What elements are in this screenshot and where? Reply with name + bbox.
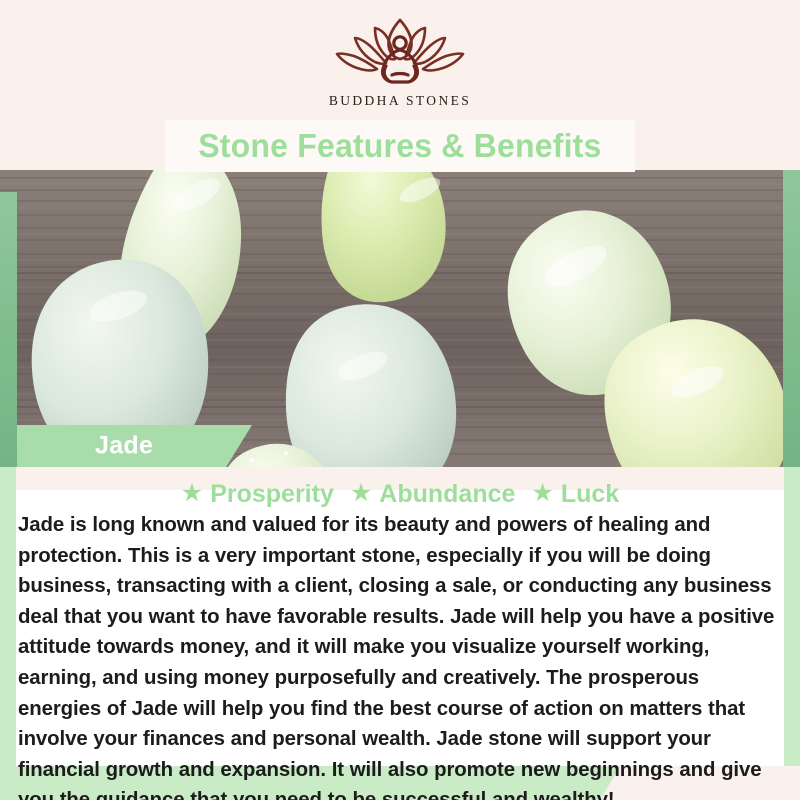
lotus-meditation-icon [325, 14, 475, 88]
stone-info-card: BUDDHA STONES [0, 0, 800, 800]
description-text: Jade is long known and valued for its be… [18, 510, 784, 800]
star-icon: ★ [181, 481, 203, 506]
keyword-label: Luck [561, 480, 619, 509]
page-title: Stone Features & Benefits [198, 127, 601, 165]
brand-header: BUDDHA STONES [0, 0, 800, 122]
left-panel-accent [0, 467, 16, 766]
left-edge-accent [0, 192, 17, 467]
keyword-label: Prosperity [210, 480, 334, 509]
stone-photo [0, 170, 800, 467]
right-panel-accent [784, 467, 800, 766]
brand-name: BUDDHA STONES [329, 93, 471, 109]
keyword-label: Abundance [379, 480, 515, 509]
keyword-prosperity: ★ Prosperity [181, 480, 334, 509]
keyword-luck: ★ Luck [531, 480, 619, 509]
star-icon: ★ [531, 481, 553, 506]
keyword-abundance: ★ Abundance [350, 480, 516, 509]
logo-wrap: BUDDHA STONES [325, 14, 475, 109]
stone-name-badge: Jade [17, 425, 252, 467]
page-title-banner: Stone Features & Benefits [165, 120, 635, 172]
keyword-list: ★ Prosperity ★ Abundance ★ Luck [16, 478, 784, 510]
right-edge-accent [783, 170, 800, 467]
stone-name: Jade [95, 432, 153, 461]
star-icon: ★ [350, 481, 372, 506]
